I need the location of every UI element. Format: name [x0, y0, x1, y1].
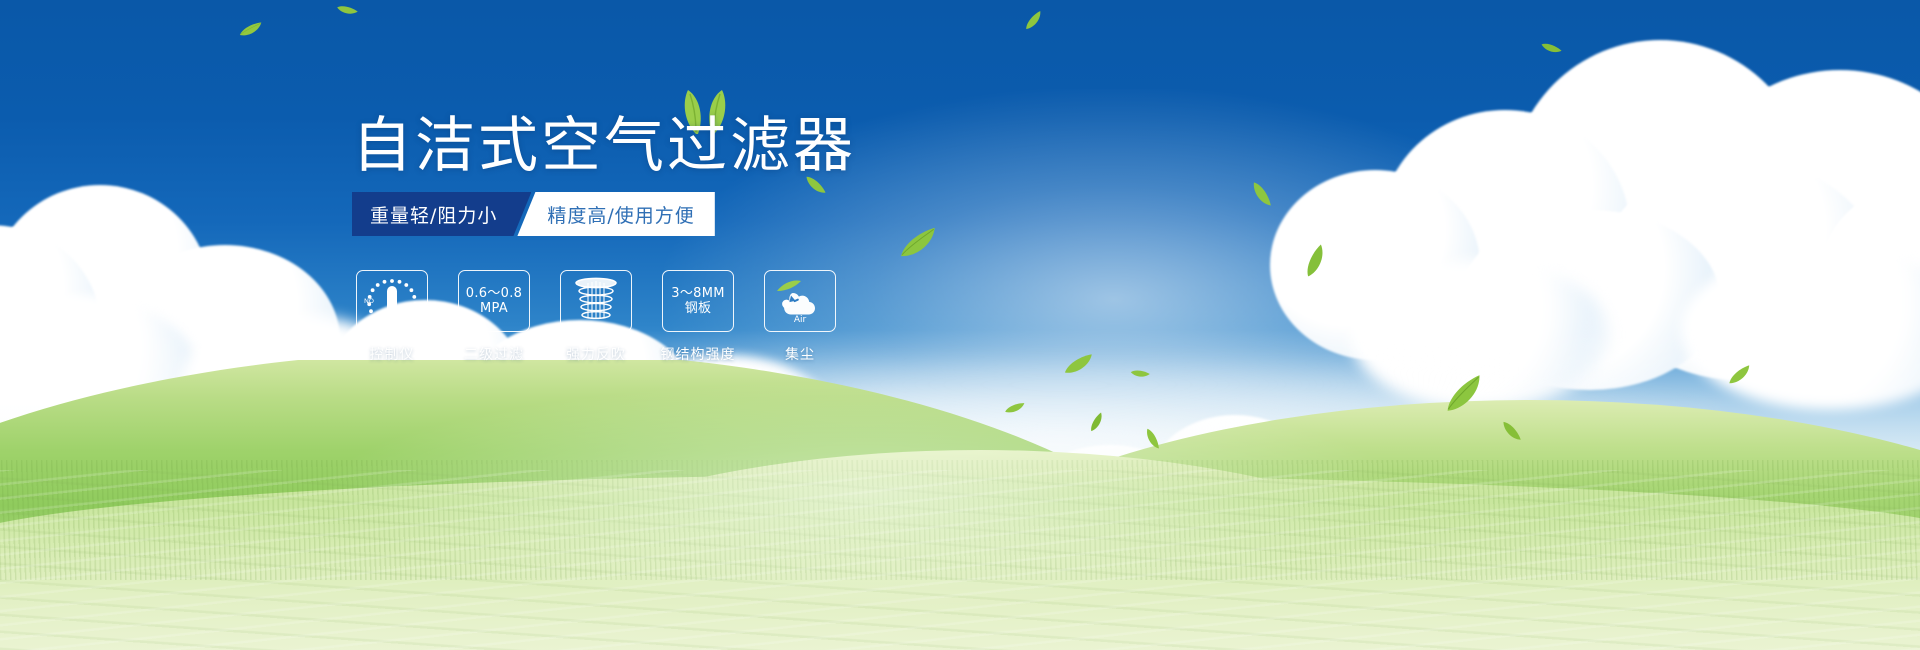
- air-cloud-icon: Air: [771, 277, 829, 325]
- air-badge-label: Air: [794, 315, 807, 325]
- feature-caption: 强力反吹: [566, 344, 626, 364]
- feature-caption: 二级过滤: [464, 344, 524, 364]
- banner-content: 自洁式空气过滤器 重量轻/阻力小 精度高/使用方便: [0, 0, 1920, 650]
- dial-on-label: NO: [364, 297, 374, 305]
- tag-highprecision-easyuse[interactable]: 精度高/使用方便: [517, 192, 714, 236]
- product-hero-banner: 自洁式空气过滤器 重量轻/阻力小 精度高/使用方便: [0, 0, 1920, 650]
- steel-plate-text-icon: 3～8MM 钢板: [671, 286, 724, 317]
- page-title: 自洁式空气过滤器: [352, 116, 856, 176]
- feature-box: 3～8MM 钢板: [662, 270, 734, 332]
- feature-box: 0.6～0.8 MPA: [458, 270, 530, 332]
- feature-controller[interactable]: NO OFF 控制仪: [356, 270, 428, 364]
- feature-box: NO OFF: [356, 270, 428, 332]
- feature-box: [560, 270, 632, 332]
- feature-caption: 控制仪: [370, 344, 415, 364]
- feature-strong-backblow[interactable]: 强力反吹: [560, 270, 632, 364]
- gauge-dial-icon: NO OFF: [361, 275, 423, 327]
- feature-caption: 钢结构强度: [661, 344, 736, 364]
- feature-steel-strength[interactable]: 3～8MM 钢板 钢结构强度: [662, 270, 734, 364]
- feature-dust-collection[interactable]: Air 集尘: [764, 270, 836, 364]
- tag-strip: 重量轻/阻力小 精度高/使用方便: [352, 192, 715, 236]
- tag-lightweight-lowresistance[interactable]: 重量轻/阻力小: [352, 192, 531, 236]
- dial-off-label: OFF: [404, 314, 417, 322]
- feature-box: Air: [764, 270, 836, 332]
- feature-two-stage-filter[interactable]: 0.6～0.8 MPA 二级过滤: [458, 270, 530, 364]
- pressure-text-icon: 0.6～0.8 MPA: [466, 286, 522, 317]
- feature-caption: 集尘: [785, 344, 815, 364]
- filter-cartridge-icon: [569, 276, 623, 326]
- feature-list: NO OFF 控制仪 0.6～0.8 MPA 二级过滤: [356, 270, 836, 364]
